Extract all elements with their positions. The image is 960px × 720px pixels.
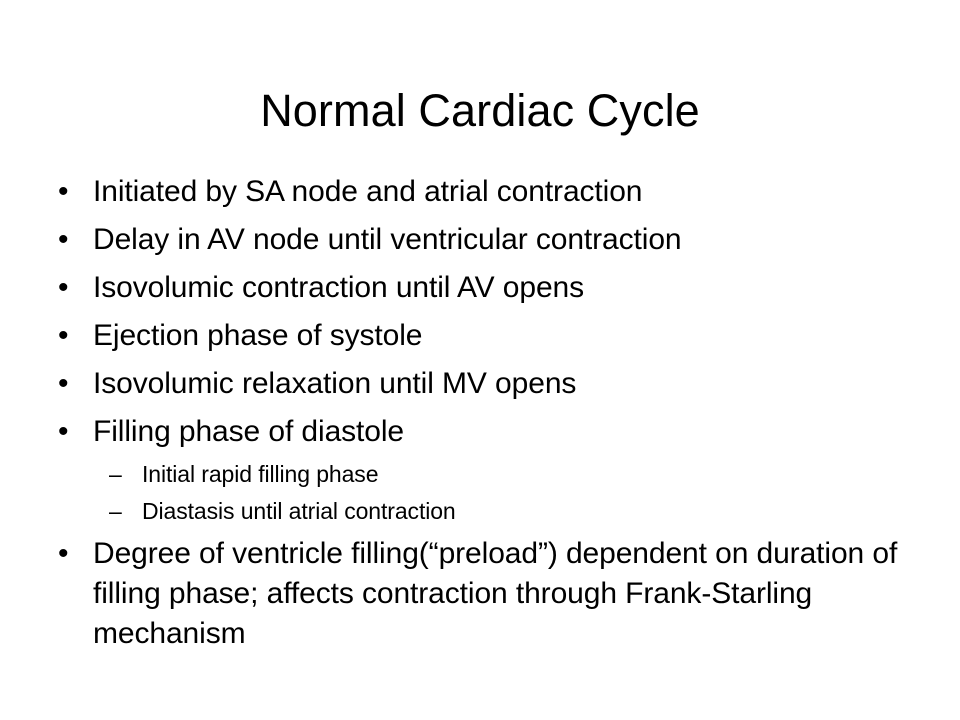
bullet-point-icon: • [58,264,68,312]
page-title: Normal Cardiac Cycle [0,86,960,136]
bullet-point-icon: • [58,360,68,408]
list-item: • Filling phase of diastole [52,408,908,456]
list-item-label: Degree of ventricle filling(“preload”) d… [93,537,897,650]
list-item-label: Ejection phase of systole [93,319,422,352]
list-item: • Isovolumic contraction until AV opens [52,264,908,312]
list-item: • Ejection phase of systole [52,312,908,360]
list-item-label: Isovolumic contraction until AV opens [93,271,584,304]
sub-list-item: – Diastasis until atrial contraction [52,493,908,530]
list-item: • Delay in AV node until ventricular con… [52,216,908,264]
bullet-point-icon: • [58,534,68,574]
presentation-slide: Normal Cardiac Cycle • Initiated by SA n… [0,0,960,720]
bullet-point-icon: • [58,312,68,360]
dash-bullet-icon: – [109,456,122,493]
list-item-label: Isovolumic relaxation until MV opens [93,367,576,400]
bullet-point-icon: • [58,408,68,456]
slide-body: • Initiated by SA node and atrial contra… [52,168,908,654]
sub-list-container: – Initial rapid filling phase – Diastasi… [52,456,908,530]
list-item-label: Initiated by SA node and atrial contract… [93,175,642,208]
bullet-point-icon: • [58,168,68,216]
list-item-label: Delay in AV node until ventricular contr… [93,223,682,256]
sub-bullet-list: – Initial rapid filling phase – Diastasi… [52,456,908,530]
bullet-list: • Initiated by SA node and atrial contra… [52,168,908,654]
sub-list-item-label: Initial rapid filling phase [142,461,378,487]
bullet-point-icon: • [58,216,68,264]
sub-list-item: – Initial rapid filling phase [52,456,908,493]
list-item: • Initiated by SA node and atrial contra… [52,168,908,216]
dash-bullet-icon: – [109,493,122,530]
list-item: • Degree of ventricle filling(“preload”)… [52,530,908,654]
list-item-label: Filling phase of diastole [93,415,404,448]
list-item: • Isovolumic relaxation until MV opens [52,360,908,408]
sub-list-item-label: Diastasis until atrial contraction [142,498,456,524]
